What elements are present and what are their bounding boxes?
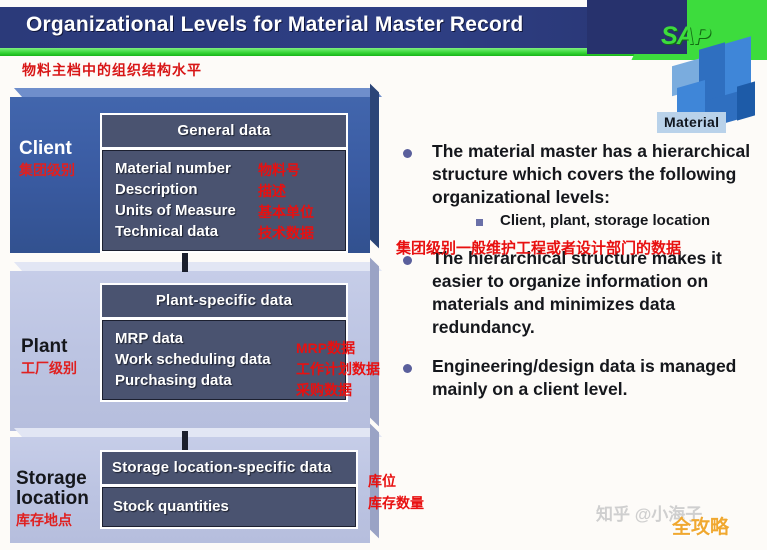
material-block-icon — [737, 81, 755, 120]
watermark-badge: 全攻略 — [672, 512, 729, 539]
panel-row: Stock quantities — [113, 496, 355, 517]
connector-client-plant — [182, 253, 188, 272]
sub-bullet-item: Client, plant, storage location — [432, 211, 766, 231]
bullet-item: Engineering/design data is managed mainl… — [396, 355, 766, 401]
panel-title-storage-location-data: Storage location-specific data — [102, 452, 356, 484]
level-label-client: Client 集团级别 — [19, 139, 75, 179]
bullet-text: Engineering/design data is managed mainl… — [432, 355, 766, 401]
box-top-face — [14, 428, 382, 437]
annotation-row-cn: 库位 — [368, 470, 424, 492]
sap-logo-text: SAP — [661, 22, 709, 51]
level-label-client-cn: 集团级别 — [19, 161, 75, 179]
bullet-item: The material master has a hierarchical s… — [396, 140, 766, 231]
annotation-row-cn: 库存数量 — [368, 492, 424, 514]
level-label-client-en: Client — [19, 139, 75, 159]
sub-bullet-text: Client, plant, storage location — [500, 211, 766, 231]
annotation-plant-rows-cn: MRP数据 工作计划数据 采购数据 — [296, 338, 380, 401]
sap-logo-corner: SAP Material — [587, 0, 767, 150]
panel-storage-location-data: Storage location-specific data Stock qua… — [100, 450, 358, 529]
subtitle-chinese: 物料主档中的组织结构水平 — [22, 60, 202, 80]
box-side-face — [370, 84, 379, 249]
level-label-storage-en-line1: Storage — [16, 469, 89, 489]
annotation-overlay-cn: 集团级别一般维护工程或者设计部门的数据 — [396, 237, 766, 258]
page-title: Organizational Levels for Material Maste… — [26, 13, 523, 37]
bullet-square-icon — [476, 219, 483, 226]
connector-plant-storage — [182, 431, 188, 450]
annotation-row-cn: MRP数据 — [296, 338, 380, 359]
annotation-row-cn: 采购数据 — [296, 380, 380, 401]
level-label-storage: Storage location 库存地点 — [16, 469, 89, 529]
level-label-plant-en: Plant — [21, 337, 77, 357]
bullet-dot-icon — [403, 364, 412, 373]
bullet-item: The hierarchical structure makes it easi… — [396, 247, 766, 339]
annotation-row-cn: 物料号 — [258, 160, 314, 181]
level-label-storage-en-line2: location — [16, 489, 89, 509]
bullet-list: The material master has a hierarchical s… — [396, 140, 766, 417]
panel-title-general-data: General data — [102, 115, 346, 147]
level-label-plant: Plant 工厂级别 — [21, 337, 77, 377]
box-top-face — [14, 262, 382, 271]
annotation-client-rows-cn: 物料号 描述 基本单位 技术数据 — [258, 160, 314, 244]
panel-title-plant-specific-data: Plant-specific data — [102, 285, 346, 317]
panel-body-storage-location-data: Stock quantities — [102, 487, 356, 527]
level-label-plant-cn: 工厂级别 — [21, 359, 77, 377]
annotation-row-cn: 基本单位 — [258, 202, 314, 223]
annotation-row-cn: 工作计划数据 — [296, 359, 380, 380]
box-top-face — [14, 88, 382, 97]
bullet-dot-icon — [403, 149, 412, 158]
annotation-storage-rows-cn: 库位 库存数量 — [368, 470, 424, 514]
bullet-text: The material master has a hierarchical s… — [432, 140, 766, 209]
annotation-row-cn: 技术数据 — [258, 223, 314, 244]
material-caption: Material — [657, 112, 726, 133]
annotation-row-cn: 描述 — [258, 181, 314, 202]
slide-canvas: Organizational Levels for Material Maste… — [0, 0, 767, 550]
bullet-text: The hierarchical structure makes it easi… — [432, 247, 766, 339]
level-label-storage-cn: 库存地点 — [16, 511, 89, 529]
